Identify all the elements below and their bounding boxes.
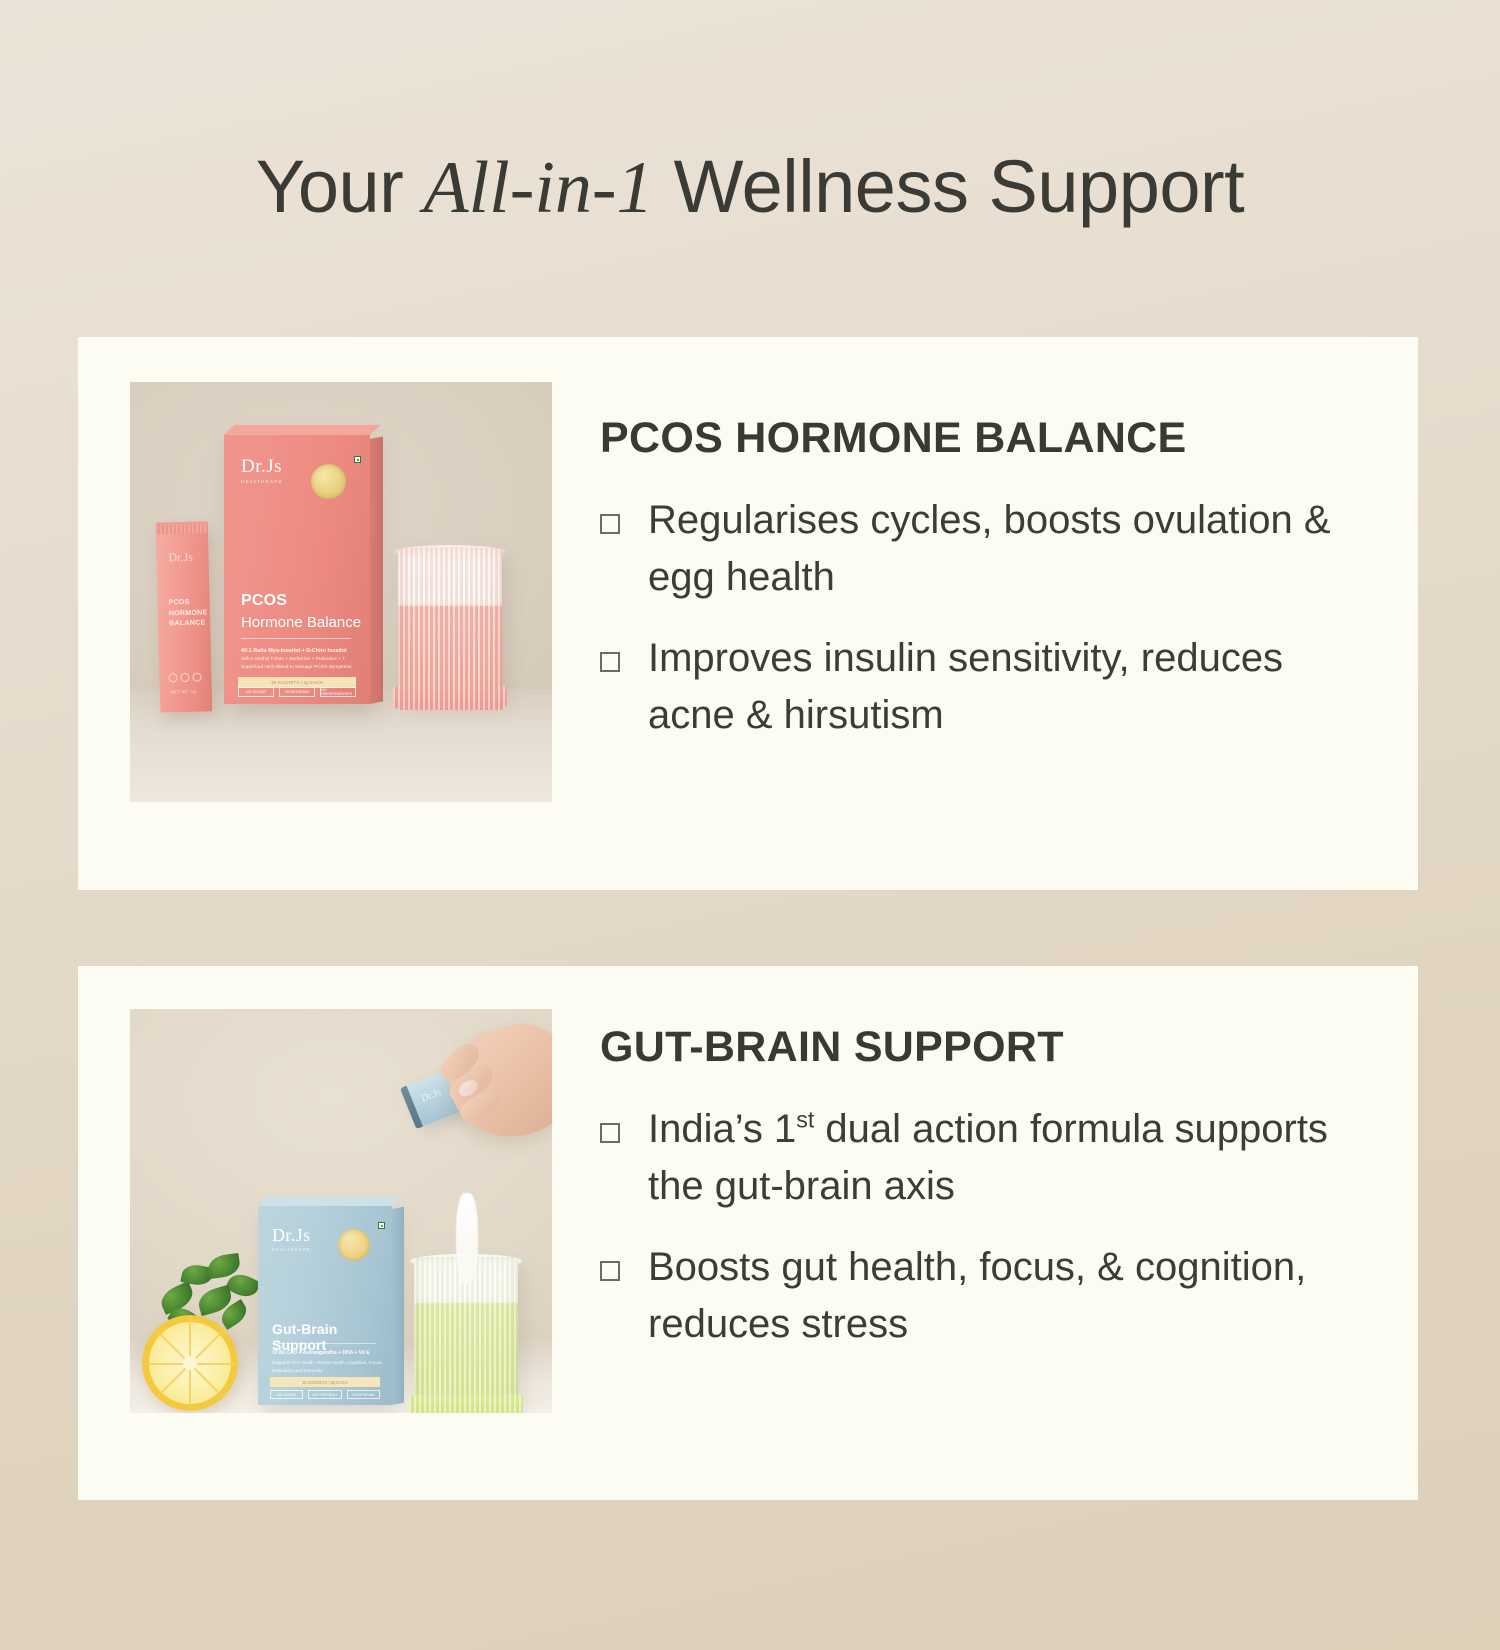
sachet-label-text: PCOS HORMONE BALANCE [169, 598, 200, 630]
box-divider [272, 1343, 376, 1344]
glass-body [398, 548, 502, 698]
ordinal-superscript: st [796, 1107, 814, 1133]
list-item: Improves insulin sensitivity, reduces ac… [600, 630, 1378, 744]
list-item: Boosts gut health, focus, & cognition, r… [600, 1239, 1378, 1353]
sachet-footer-text: NET WT. 5g [171, 689, 197, 695]
box-brand-logo: Dr.JsHEALTHCARE [272, 1225, 311, 1252]
page-title: Your All-in-1 Wellness Support [0, 0, 1500, 228]
box-brand-logo: Dr.JsHEALTHCARE [241, 456, 283, 484]
sachet-brand-logo: Dr.Js [168, 550, 193, 566]
box-brand-sub: HEALTHCARE [241, 479, 283, 484]
product-box-pcos: Dr.JsHEALTHCARE PCOS Hormone Balance 40:… [224, 434, 370, 704]
ribbed-glass-with-pink-drink [398, 548, 502, 698]
box-badge: NO SUGAR [270, 1390, 303, 1399]
page-title-italic-all-in-1: All-in-1 [423, 147, 653, 229]
list-item-label: Regularises cycles, boosts ovulation & e… [648, 492, 1378, 606]
list-item: India’s 1st dual action formula supports… [600, 1101, 1378, 1215]
benefit-list-gut-brain: India’s 1st dual action formula supports… [600, 1101, 1378, 1352]
sachet-icon-row [168, 673, 201, 683]
list-item-text-before: India’s 1 [648, 1107, 796, 1151]
page-title-prefix: Your [256, 145, 424, 228]
box-claim-bold: 10 Bn CFU + Ashwagandha + DHA + Vit E [272, 1350, 382, 1358]
box-badge-row: NO SUGAR VEGETARIAN NO PRESERVATIVES [238, 687, 356, 697]
list-item-label: Improves insulin sensitivity, reduces ac… [648, 630, 1378, 744]
product-photo-scene: Dr.Js PCOS HORMONE BALANCE NET WT. 5g Dr… [130, 382, 552, 802]
box-badge: VEGETARIAN [347, 1390, 380, 1399]
lemon-core [183, 1356, 197, 1370]
product-photo-scene: Dr.JsHEALTHCARE Gut-Brain Support 10 Bn … [130, 1009, 552, 1413]
product-image-gut-brain-support: Dr.JsHEALTHCARE Gut-Brain Support 10 Bn … [130, 1009, 552, 1413]
box-divider [241, 638, 351, 639]
pouring-powder-stream [456, 1193, 478, 1285]
product-image-pcos-hormone-balance: Dr.Js PCOS HORMONE BALANCE NET WT. 5g Dr… [130, 382, 552, 802]
box-count-text: 30 SACHETS | 5g EACH [238, 680, 356, 685]
box-product-line-1: PCOS [241, 592, 287, 610]
list-item-label: Boosts gut health, focus, & cognition, r… [648, 1239, 1378, 1353]
product-sachet-stick: Dr.Js PCOS HORMONE BALANCE NET WT. 5g [156, 521, 213, 712]
box-badge: GUT FRIENDLY [308, 1390, 341, 1399]
gold-seal-badge-icon [311, 464, 346, 499]
lemon-half-decoration [142, 1315, 238, 1411]
gold-seal-badge-icon [338, 1229, 370, 1261]
glass-base [409, 1395, 523, 1413]
sachet-crimp-top [156, 521, 208, 534]
square-bullet-icon [600, 514, 620, 534]
box-badge-row: NO SUGAR GUT FRIENDLY VEGETARIAN [270, 1390, 380, 1399]
list-item-label: India’s 1st dual action formula supports… [648, 1101, 1378, 1215]
list-item: Regularises cycles, boosts ovulation & e… [600, 492, 1378, 606]
hand-holding-sachet [438, 1014, 552, 1150]
card-pcos-hormone-balance: Dr.Js PCOS HORMONE BALANCE NET WT. 5g Dr… [78, 337, 1418, 890]
box-claim-small: Supports Gut Health, Mental Health, Cogn… [272, 1359, 384, 1375]
vegetarian-mark-icon [354, 456, 361, 463]
square-bullet-icon [600, 1261, 620, 1281]
square-bullet-icon [600, 1123, 620, 1143]
sachet-brand-logo: Dr.Js [420, 1087, 443, 1105]
vegetarian-mark-icon [378, 1222, 385, 1229]
square-bullet-icon [600, 652, 620, 672]
box-badge: NO PRESERVATIVES [320, 687, 356, 697]
card-text-pcos: PCOS HORMONE BALANCE Regularises cycles,… [552, 337, 1418, 743]
glass-base [393, 686, 507, 710]
box-product-line-2: Hormone Balance [241, 614, 361, 631]
box-brand-sub: HEALTHCARE [272, 1247, 311, 1252]
box-claim-small: with L-Methyl Folate + Berberine + Probi… [241, 656, 361, 672]
box-badge: VEGETARIAN [279, 687, 315, 697]
box-badge: NO SUGAR [238, 687, 274, 697]
box-product-line-1: Gut-Brain Support [272, 1321, 392, 1353]
product-box-gut-brain: Dr.JsHEALTHCARE Gut-Brain Support 10 Bn … [258, 1205, 392, 1405]
box-claim-bold: 40:1 Ratio Myo-Inositol + D-Chiro Inosit… [241, 647, 359, 655]
box-count-text: 30 SACHETS | 5g EACH [270, 1380, 380, 1385]
card-heading-pcos: PCOS HORMONE BALANCE [600, 415, 1378, 462]
card-text-gut-brain: GUT-BRAIN SUPPORT India’s 1st dual actio… [552, 966, 1418, 1352]
box-count-band: 30 SACHETS | 5g EACH [270, 1377, 380, 1387]
benefit-list-pcos: Regularises cycles, boosts ovulation & e… [600, 492, 1378, 743]
card-gut-brain-support: Dr.JsHEALTHCARE Gut-Brain Support 10 Bn … [78, 966, 1418, 1500]
page-title-suffix: Wellness Support [654, 145, 1245, 228]
card-heading-gut-brain: GUT-BRAIN SUPPORT [600, 1024, 1378, 1071]
